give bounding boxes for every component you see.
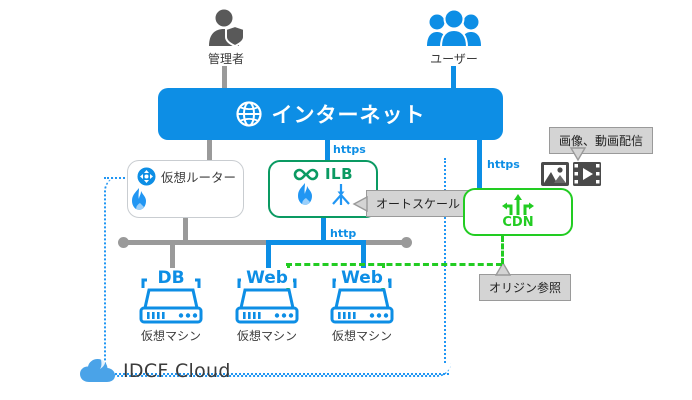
line-bus-to-web1 (266, 240, 271, 268)
network-bus-blue-segment (266, 240, 366, 245)
infinity-icon (293, 167, 319, 182)
users-label: ユーザー (414, 50, 494, 67)
autoscale-callout: オートスケール (366, 190, 470, 217)
brand-name: IDCF Cloud (123, 360, 231, 382)
vm-web-2-tag: Web (336, 268, 388, 288)
line-bus-to-db (170, 240, 175, 268)
vm-db-label: 仮想マシン (133, 327, 209, 344)
firewall-flame-icon (294, 182, 316, 206)
vm-web-1-label: 仮想マシン (229, 327, 305, 344)
users-icon (426, 10, 482, 48)
origin-callout: オリジン参照 (479, 274, 571, 301)
internet-banner: インターネット (158, 88, 503, 140)
line-router-to-bus (183, 218, 188, 240)
globe-icon (236, 101, 262, 127)
cdn-distribute-icon (496, 194, 540, 216)
idcf-cloud-boundary-right (444, 158, 446, 363)
autoscale-callout-arrow (354, 196, 368, 212)
media-callout-arrow (570, 148, 586, 161)
cdn-label: CDN (502, 215, 533, 230)
router-move-icon (137, 167, 156, 186)
https-ilb-label: https (333, 143, 366, 156)
architecture-diagram: 管理者 ユーザー インターネット https htt (0, 0, 692, 400)
internet-label: インターネット (272, 99, 426, 129)
film-icon (572, 161, 602, 187)
line-internet-to-router (207, 140, 212, 162)
line-ilb-to-bus (321, 218, 326, 240)
vm-db-tag: DB (147, 268, 195, 288)
ilb-label: ILB (325, 165, 353, 183)
vm-db[interactable]: DB 仮想マシン (133, 272, 209, 344)
cloud-logo-icon (80, 358, 116, 384)
virtual-router-node[interactable]: 仮想ルーター (127, 160, 244, 218)
vm-web-1-tag: Web (241, 268, 293, 288)
admin-icon (205, 8, 249, 48)
line-cdn-to-origin (501, 236, 504, 264)
vm-web-2[interactable]: Web 仮想マシン (324, 272, 400, 344)
brand-logo: IDCF Cloud (80, 358, 231, 384)
admin-label: 管理者 (186, 50, 266, 67)
http-label: http (330, 227, 356, 240)
cdn-origin-path-horizontal (286, 263, 502, 266)
firewall-flame-icon (128, 187, 243, 211)
autoscale-arrows-icon (330, 183, 352, 206)
line-internet-to-ilb (325, 140, 330, 162)
vm-web-2-label: 仮想マシン (324, 327, 400, 344)
media-callout: 画像、動画配信 (549, 127, 653, 154)
virtual-router-label: 仮想ルーター (161, 167, 236, 186)
line-internet-to-cdn (477, 140, 482, 188)
bus-right-endpoint (401, 237, 412, 248)
vm-web-1[interactable]: Web 仮想マシン (229, 272, 305, 344)
cdn-node[interactable]: CDN (463, 188, 573, 236)
https-cdn-label: https (487, 158, 520, 171)
bus-left-endpoint (118, 237, 129, 248)
image-icon (540, 161, 570, 187)
